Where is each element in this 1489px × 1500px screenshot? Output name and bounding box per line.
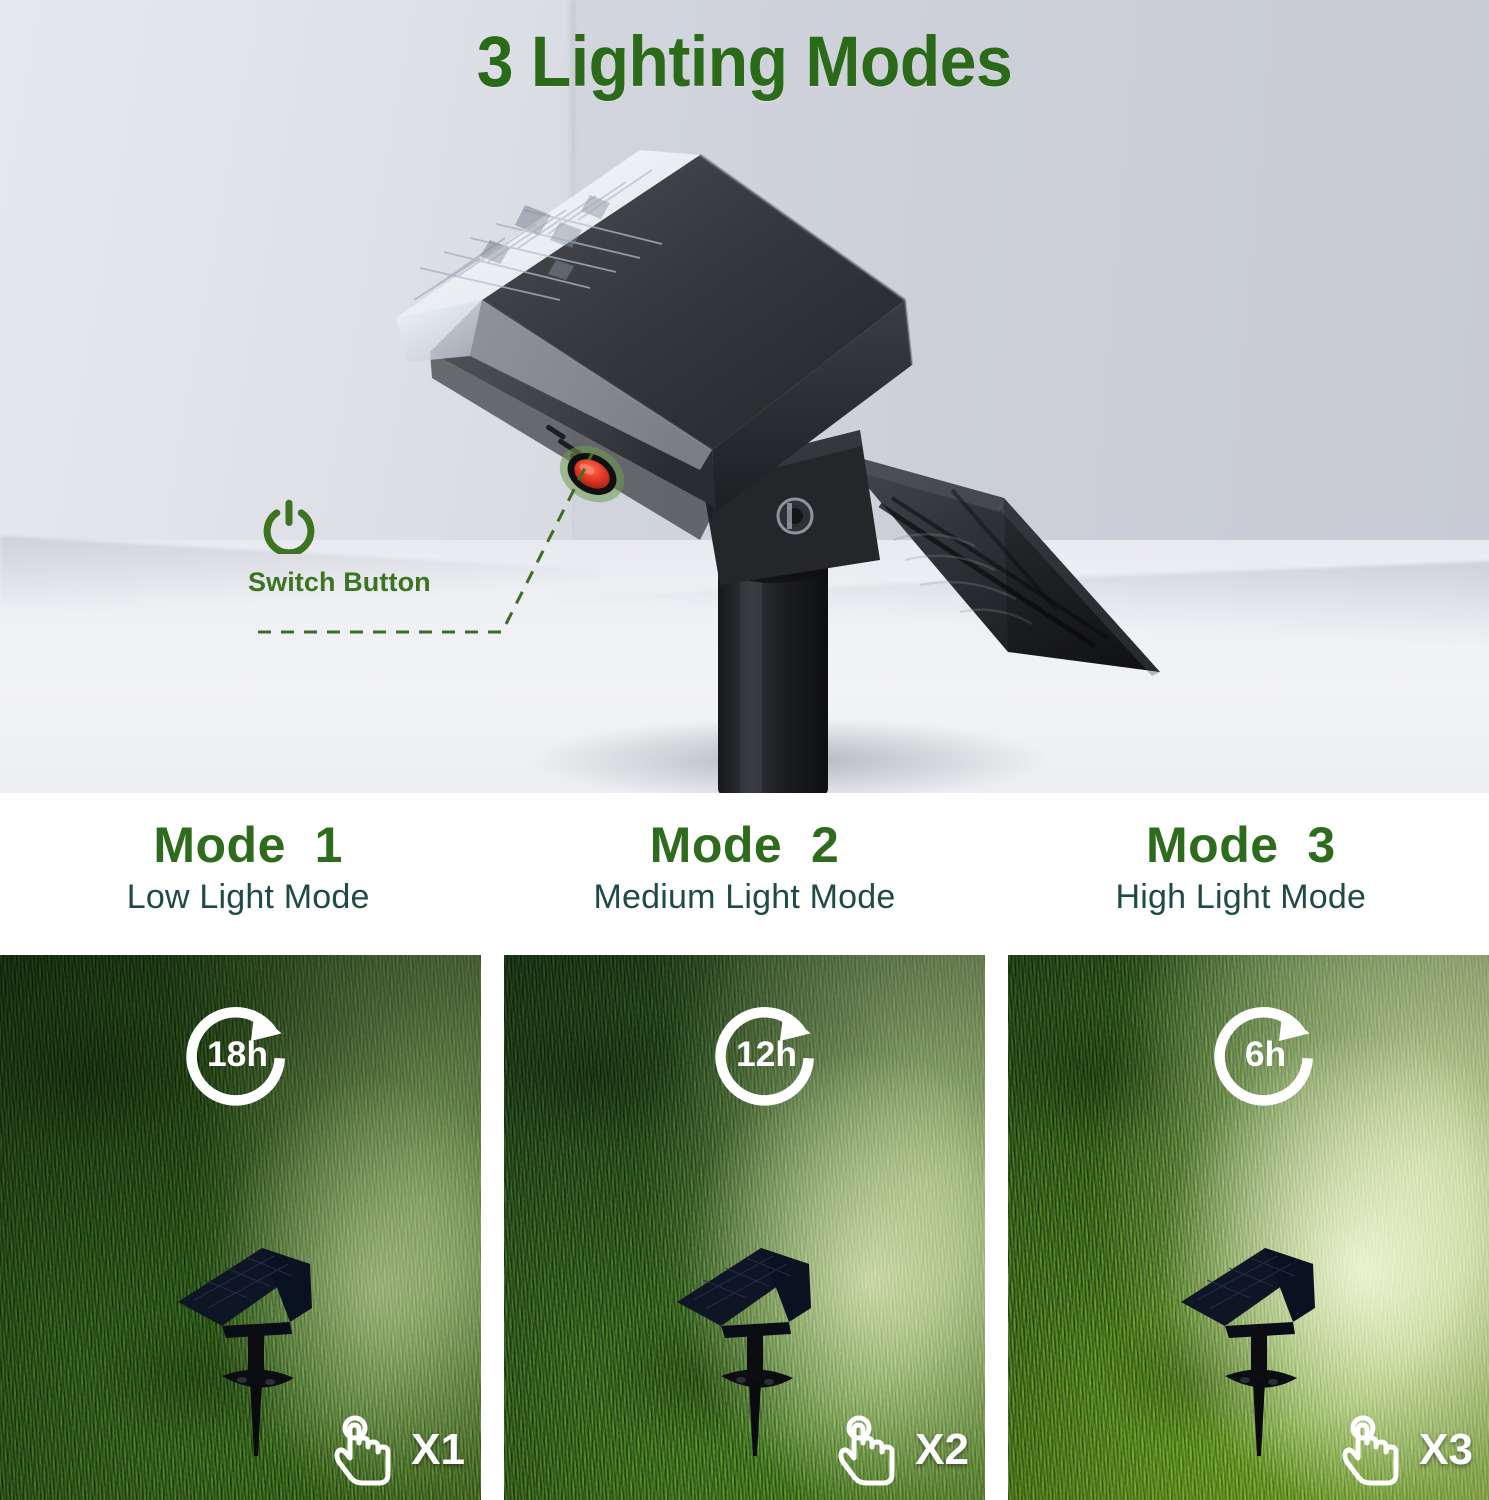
timer-badge: 6h	[1208, 995, 1323, 1110]
mini-solar-lamp	[1173, 1230, 1353, 1460]
solar-panel	[836, 452, 1160, 676]
page-title: 3 Lighting Modes	[52, 22, 1437, 103]
hand-tap-icon	[837, 1414, 903, 1486]
timer-badge: 18h	[180, 995, 295, 1110]
tap-count-text: X2	[915, 1428, 969, 1472]
hand-tap-icon	[1341, 1414, 1407, 1486]
tap-count-badge: X1	[333, 1414, 465, 1486]
mode-title: Mode 2	[496, 819, 992, 872]
mode-subtitle: Low Light Mode	[0, 878, 496, 917]
power-icon	[261, 498, 317, 554]
tap-count-badge: X3	[1341, 1414, 1473, 1486]
hero-product-photo: Switch Button 3 Lighting Modes	[0, 0, 1489, 793]
hand-tap-icon	[333, 1414, 399, 1486]
mode-panel-2: 12h X2	[504, 955, 985, 1500]
timer-text: 6h	[1245, 1034, 1286, 1074]
mode-headings-row: Mode 1 Low Light Mode Mode 2 Medium Ligh…	[0, 793, 1489, 955]
mode-panel-3: 6h X3	[1008, 955, 1489, 1500]
mini-solar-lamp	[669, 1230, 849, 1460]
switch-button-callout: Switch Button	[248, 498, 431, 598]
tap-count-text: X3	[1419, 1428, 1473, 1472]
timer-badge: 12h	[709, 995, 824, 1110]
mode-title: Mode 1	[0, 819, 496, 872]
mode-photo-panels: 18h X1	[0, 955, 1489, 1500]
timer-text: 12h	[736, 1034, 797, 1074]
mode-heading-3: Mode 3 High Light Mode	[993, 793, 1489, 955]
mode-subtitle: Medium Light Mode	[496, 878, 992, 917]
mode-heading-1: Mode 1 Low Light Mode	[0, 793, 496, 955]
mode-heading-2: Mode 2 Medium Light Mode	[496, 793, 992, 955]
solar-spotlight-product	[0, 0, 1489, 793]
mode-title: Mode 3	[993, 819, 1489, 872]
tap-count-text: X1	[411, 1428, 465, 1472]
mode-subtitle: High Light Mode	[993, 878, 1489, 917]
tap-count-badge: X2	[837, 1414, 969, 1486]
mini-solar-lamp	[170, 1230, 350, 1460]
timer-text: 18h	[207, 1034, 268, 1074]
switch-button-label: Switch Button	[248, 567, 431, 598]
mode-panel-1: 18h X1	[0, 955, 481, 1500]
